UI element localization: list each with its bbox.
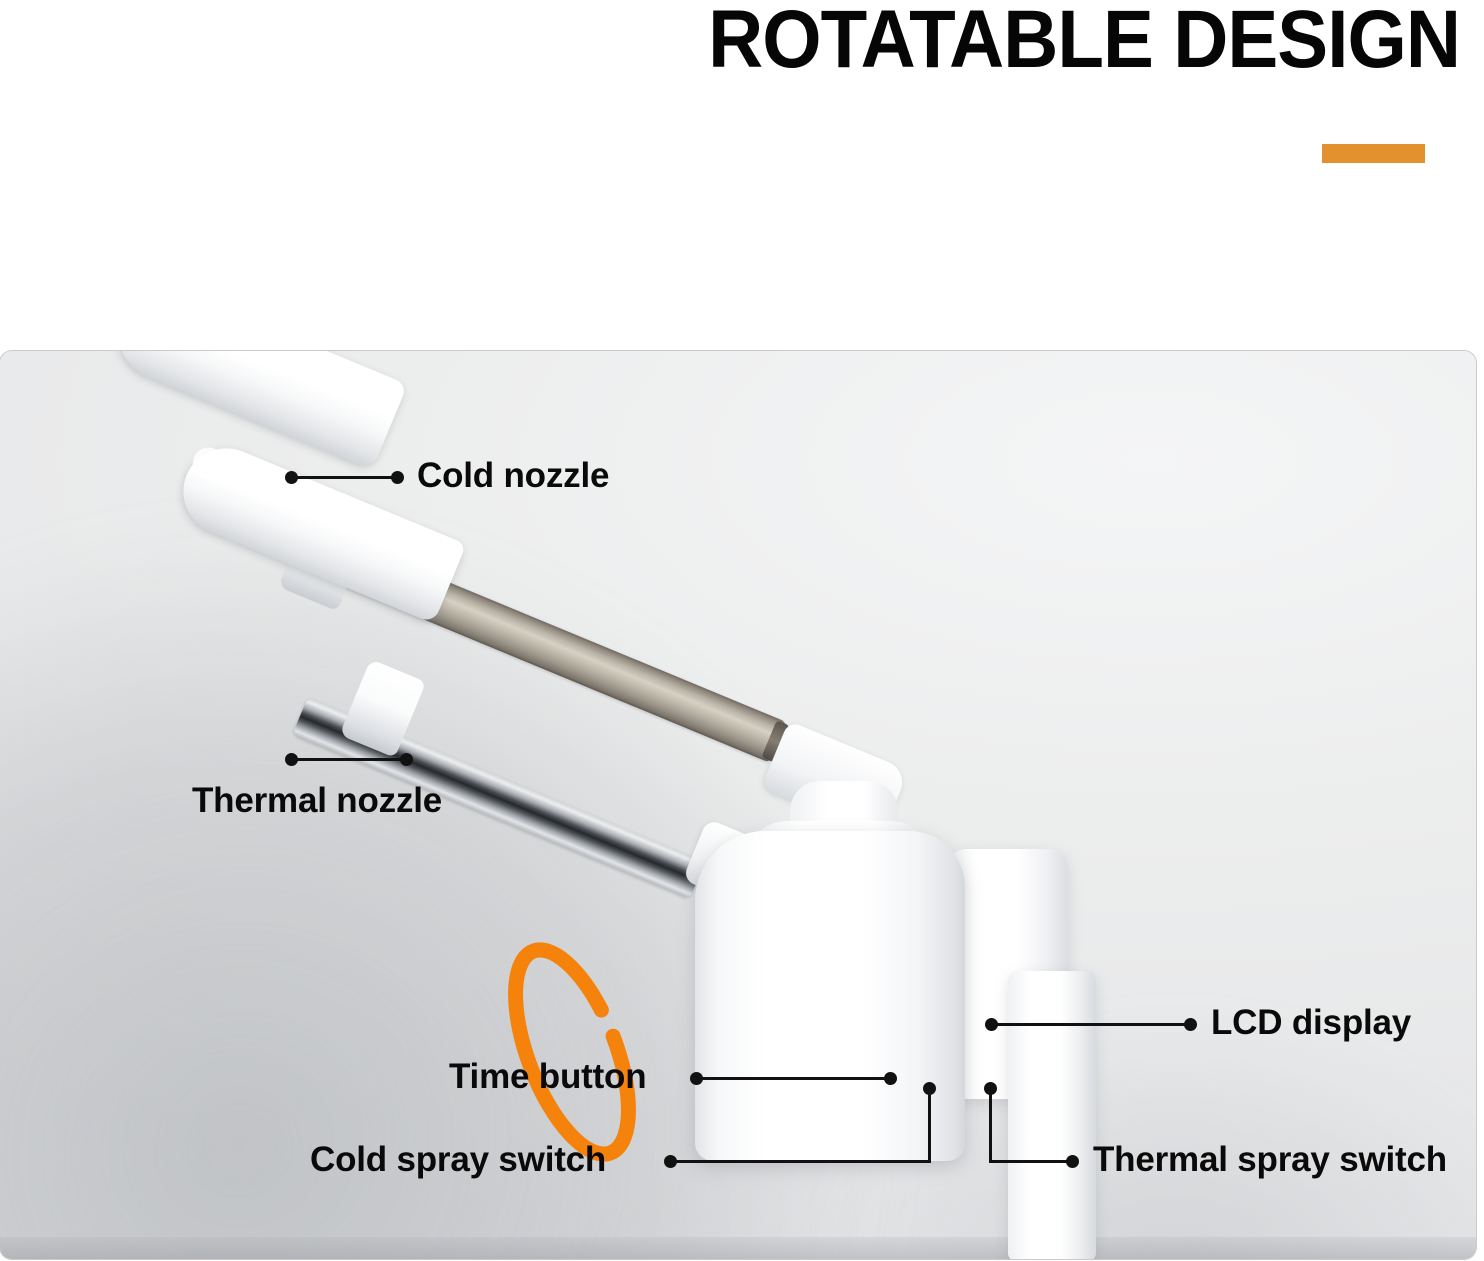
cold-spray-anchor-dot	[923, 1082, 936, 1095]
page-title: ROTATABLE DESIGN	[102, 0, 1460, 86]
thermal-spray-anchor-dot	[984, 1082, 997, 1095]
accent-bar	[1322, 144, 1425, 163]
rotation-ring-icon	[516, 936, 628, 1168]
callout-lcd-display: LCD display	[1211, 1003, 1411, 1043]
lcd-label-dot	[1184, 1018, 1197, 1031]
thermal-spray-label-dot	[1066, 1155, 1079, 1168]
cold-nozzle-leader-line	[291, 476, 401, 479]
cold-spray-leader-line	[670, 1160, 931, 1163]
device-main-body	[695, 831, 965, 1161]
thermal-spray-leader-riser	[989, 1087, 992, 1163]
cold-nozzle-label-dot	[391, 471, 404, 484]
callout-thermal-spray-switch: Thermal spray switch	[1093, 1140, 1447, 1180]
page-header: ROTATABLE DESIGN	[0, 0, 1484, 350]
lcd-leader-line	[991, 1023, 1187, 1026]
callout-cold-nozzle: Cold nozzle	[417, 456, 609, 496]
time-button-anchor-dot	[884, 1072, 897, 1085]
cold-spray-leader-riser	[928, 1087, 931, 1163]
thermal-nozzle-anchor-dot	[400, 753, 413, 766]
thermal-spray-leader-line	[989, 1160, 1074, 1163]
callout-cold-spray-switch: Cold spray switch	[310, 1140, 606, 1180]
water-tank-lower	[1008, 971, 1096, 1259]
cold-nozzle-head	[104, 351, 407, 469]
time-button-leader-line	[696, 1077, 896, 1080]
callout-time-button: Time button	[449, 1057, 646, 1097]
thermal-nozzle-leader-line	[291, 758, 406, 761]
callout-thermal-nozzle: Thermal nozzle	[192, 781, 442, 821]
